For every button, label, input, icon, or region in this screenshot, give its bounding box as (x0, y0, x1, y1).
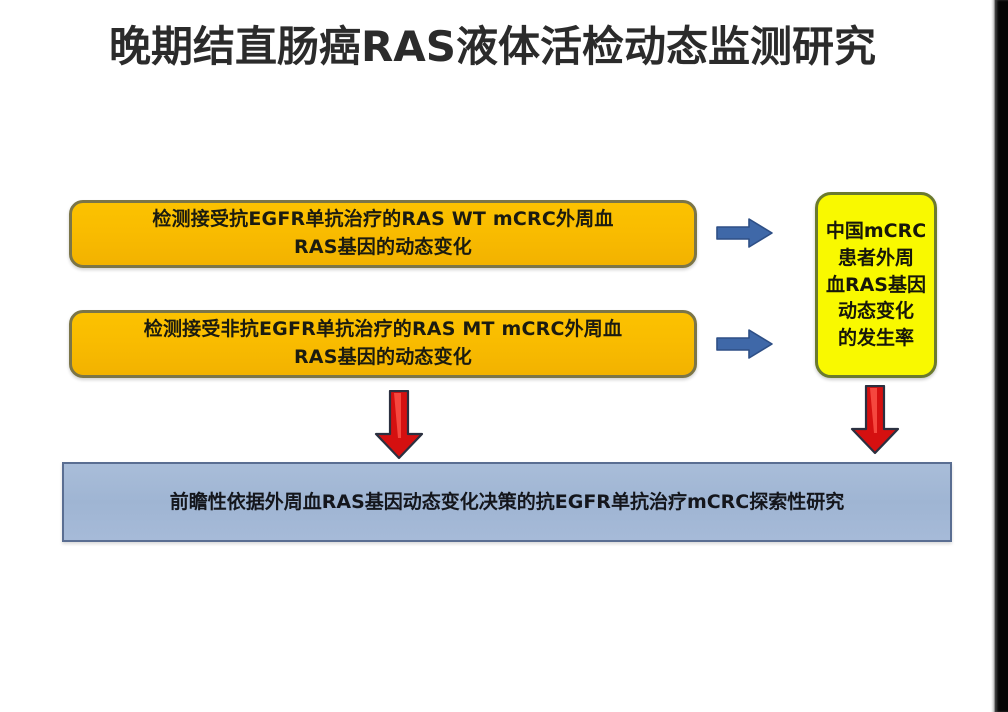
outcome-box-incidence[interactable]: 中国mCRC 患者外周 血RAS基因 动态变化 的发生率 (815, 192, 937, 378)
objective-box-ras-wt-line1: 检测接受抗EGFR单抗治疗的RAS WT mCRC外周血 (152, 208, 613, 230)
conclusion-box-prospective-study[interactable]: 前瞻性依据外周血RAS基因动态变化决策的抗EGFR单抗治疗mCRC探索性研究 (62, 462, 952, 542)
outcome-line-1: 中国mCRC (826, 220, 926, 242)
objective-box-ras-wt-line2: RAS基因的动态变化 (294, 236, 472, 258)
objective-box-ras-wt-text: 检测接受抗EGFR单抗治疗的RAS WT mCRC外周血 RAS基因的动态变化 (152, 206, 613, 261)
outcome-line-5: 的发生率 (838, 327, 914, 349)
conclusion-box-text: 前瞻性依据外周血RAS基因动态变化决策的抗EGFR单抗治疗mCRC探索性研究 (170, 490, 845, 515)
page-title: 晚期结直肠癌RAS液体活检动态监测研究 (0, 24, 985, 70)
arrow-down-icon (370, 390, 428, 460)
slide-canvas: 晚期结直肠癌RAS液体活检动态监测研究 检测接受抗EGFR单抗治疗的RAS WT… (0, 0, 1008, 712)
outcome-box-incidence-text: 中国mCRC 患者外周 血RAS基因 动态变化 的发生率 (826, 218, 926, 353)
arrow-right-icon (716, 216, 774, 250)
objective-box-ras-wt[interactable]: 检测接受抗EGFR单抗治疗的RAS WT mCRC外周血 RAS基因的动态变化 (69, 200, 697, 268)
objective-box-ras-mt-text: 检测接受非抗EGFR单抗治疗的RAS MT mCRC外周血 RAS基因的动态变化 (144, 316, 622, 371)
outcome-line-2: 患者外周 (838, 247, 914, 269)
objective-box-ras-mt[interactable]: 检测接受非抗EGFR单抗治疗的RAS MT mCRC外周血 RAS基因的动态变化 (69, 310, 697, 378)
objective-box-ras-mt-line1: 检测接受非抗EGFR单抗治疗的RAS MT mCRC外周血 (144, 318, 622, 340)
arrow-right-icon (716, 327, 774, 361)
outcome-line-4: 动态变化 (838, 300, 914, 322)
objective-box-ras-mt-line2: RAS基因的动态变化 (294, 346, 472, 368)
outcome-line-3: 血RAS基因 (826, 274, 926, 296)
edge-black-band (995, 0, 1008, 712)
arrow-down-icon (846, 385, 904, 455)
